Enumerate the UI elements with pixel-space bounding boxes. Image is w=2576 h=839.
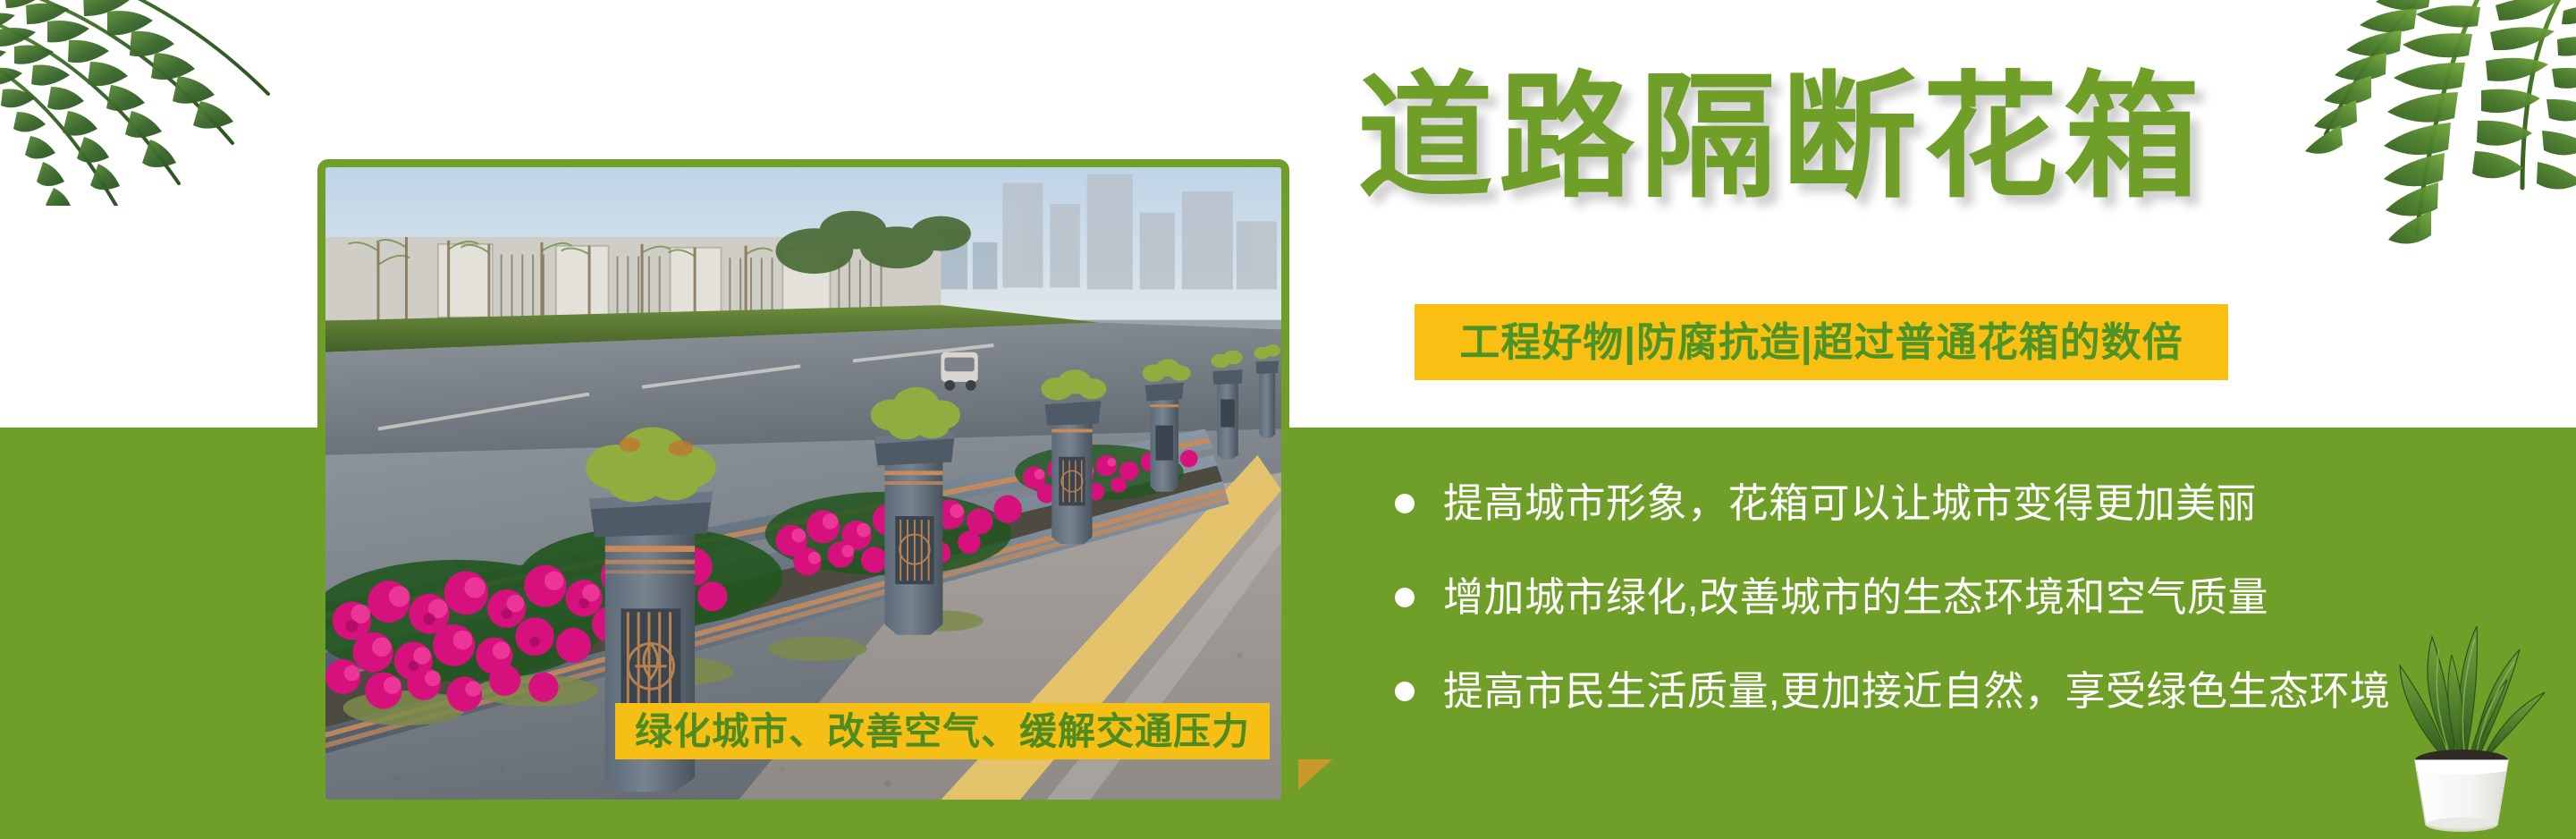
feature-list: 提高城市形象，花箱可以让城市变得更加美丽 增加城市绿化,改善城市的生态环境和空气… bbox=[1395, 456, 2557, 738]
list-item: 增加城市绿化,改善城市的生态环境和空气质量 bbox=[1395, 550, 2557, 644]
bullet-dot-icon bbox=[1395, 682, 1415, 701]
palm-frond-icon bbox=[2227, 0, 2576, 259]
list-item: 提高城市形象，花箱可以让城市变得更加美丽 bbox=[1395, 456, 2557, 550]
photo-caption-text: 绿化城市、改善空气、缓解交通压力 bbox=[635, 713, 1250, 750]
list-item-label: 提高市民生活质量,更加接近自然，享受绿色生态环境 bbox=[1443, 671, 2391, 711]
bullet-dot-icon bbox=[1395, 494, 1415, 513]
list-item-label: 提高城市形象，花箱可以让城市变得更加美丽 bbox=[1443, 483, 2257, 523]
subtitle-text: 工程好物|防腐抗造|超过普通花箱的数倍 bbox=[1459, 322, 2183, 362]
photo-caption-ribbon: 绿化城市、改善空气、缓解交通压力 bbox=[615, 703, 1270, 759]
bullet-dot-icon bbox=[1395, 588, 1415, 607]
subtitle-badge: 工程好物|防腐抗造|超过普通花箱的数倍 bbox=[1415, 304, 2228, 380]
promo-banner: 绿化城市、改善空气、缓解交通压力 道路隔断花箱 工程好物|防腐抗造|超过普通花箱… bbox=[0, 0, 2576, 839]
list-item: 提高市民生活质量,更加接近自然，享受绿色生态环境 bbox=[1395, 644, 2557, 738]
palm-frond-icon bbox=[0, 0, 340, 206]
page-title: 道路隔断花箱 bbox=[1357, 70, 2205, 206]
list-item-label: 增加城市绿化,改善城市的生态环境和空气质量 bbox=[1443, 577, 2268, 617]
